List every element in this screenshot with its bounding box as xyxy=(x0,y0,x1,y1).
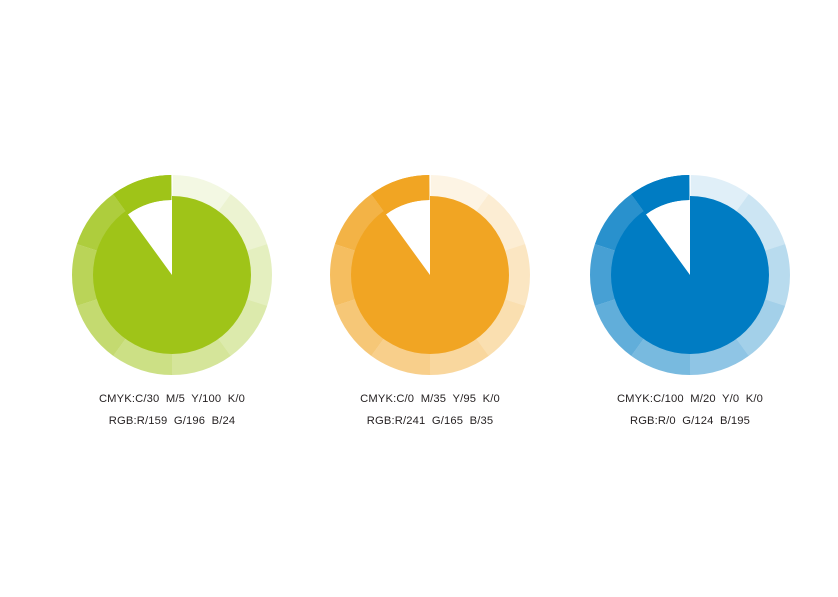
color-wheel-graphic xyxy=(587,172,793,378)
color-palette-canvas: CMYK:C/30 M/5 Y/100 K/0RGB:R/159 G/196 B… xyxy=(0,0,838,597)
cmyk-value-label: CMYK:C/30 M/5 Y/100 K/0 xyxy=(42,388,302,410)
core-disc xyxy=(351,196,509,354)
color-wheel-orange xyxy=(327,172,533,378)
rgb-value-label: RGB:R/0 G/124 B/195 xyxy=(560,410,820,432)
color-spec-caption-blue: CMYK:C/100 M/20 Y/0 K/0RGB:R/0 G/124 B/1… xyxy=(560,388,820,432)
color-wheel-green xyxy=(69,172,275,378)
color-wheel-graphic xyxy=(69,172,275,378)
core-disc xyxy=(93,196,251,354)
rgb-value-label: RGB:R/241 G/165 B/35 xyxy=(300,410,560,432)
color-wheel-blue xyxy=(587,172,793,378)
color-spec-caption-orange: CMYK:C/0 M/35 Y/95 K/0RGB:R/241 G/165 B/… xyxy=(300,388,560,432)
cmyk-value-label: CMYK:C/100 M/20 Y/0 K/0 xyxy=(560,388,820,410)
color-wheel-graphic xyxy=(327,172,533,378)
core-disc xyxy=(611,196,769,354)
rgb-value-label: RGB:R/159 G/196 B/24 xyxy=(42,410,302,432)
cmyk-value-label: CMYK:C/0 M/35 Y/95 K/0 xyxy=(300,388,560,410)
color-spec-caption-green: CMYK:C/30 M/5 Y/100 K/0RGB:R/159 G/196 B… xyxy=(42,388,302,432)
